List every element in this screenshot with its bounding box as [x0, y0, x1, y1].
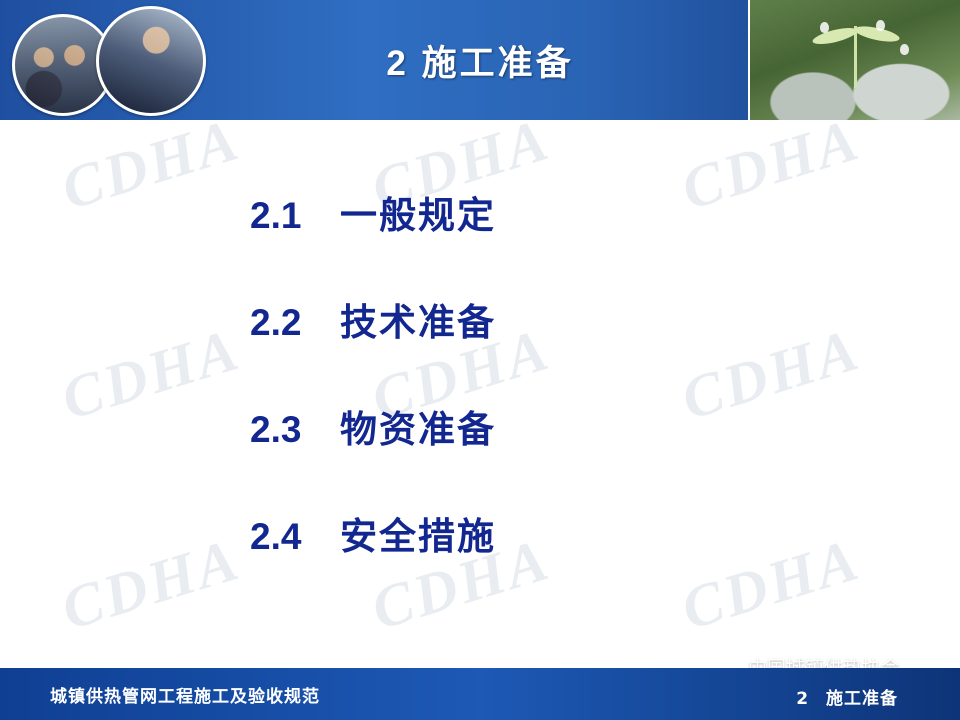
toc-item-2-3[interactable]: 2.3 物资准备 — [250, 399, 770, 453]
footer-section-number: 2 — [796, 689, 809, 709]
watermark-text: CDHA — [54, 525, 248, 644]
slide-canvas: 2 施工准备 CDHA CDHA CDHA CDHA CDHA CDHA CDH… — [0, 0, 960, 720]
watermark-text: CDHA — [54, 315, 248, 434]
toc-item-label: 技术准备 — [340, 292, 496, 346]
water-drop-icon — [820, 22, 829, 33]
footer-section-label: 2 施工准备 — [796, 684, 898, 709]
toc-item-2-1[interactable]: 2.1 一般规定 — [250, 185, 770, 239]
toc-item-label: 一般规定 — [340, 185, 496, 239]
footer-section-text: 施工准备 — [826, 689, 898, 709]
toc-item-number: 2.2 — [250, 302, 340, 344]
watermark-text: CDHA — [54, 105, 248, 224]
toc-item-number: 2.1 — [250, 195, 340, 237]
sprout-photo-icon — [748, 0, 960, 120]
water-drop-icon — [876, 20, 885, 31]
sprout-stem-icon — [854, 26, 857, 88]
toc-item-2-4[interactable]: 2.4 安全措施 — [250, 506, 770, 560]
toc-item-number: 2.4 — [250, 516, 340, 558]
toc-item-label: 安全措施 — [340, 506, 496, 560]
water-drop-icon — [900, 44, 909, 55]
sprout-leaf-left-icon — [811, 25, 859, 48]
footer-document-title: 城镇供热管网工程施工及验收规范 — [50, 682, 320, 707]
toc-list: 2.1 一般规定 2.2 技术准备 2.3 物资准备 2.4 安全措施 — [250, 185, 770, 613]
toc-item-number: 2.3 — [250, 409, 340, 451]
toc-item-label: 物资准备 — [340, 399, 496, 453]
toc-item-2-2[interactable]: 2.2 技术准备 — [250, 292, 770, 346]
slide-header: 2 施工准备 — [0, 0, 960, 120]
slide-footer: 城镇供热管网工程施工及验收规范 2 施工准备 — [0, 668, 960, 720]
